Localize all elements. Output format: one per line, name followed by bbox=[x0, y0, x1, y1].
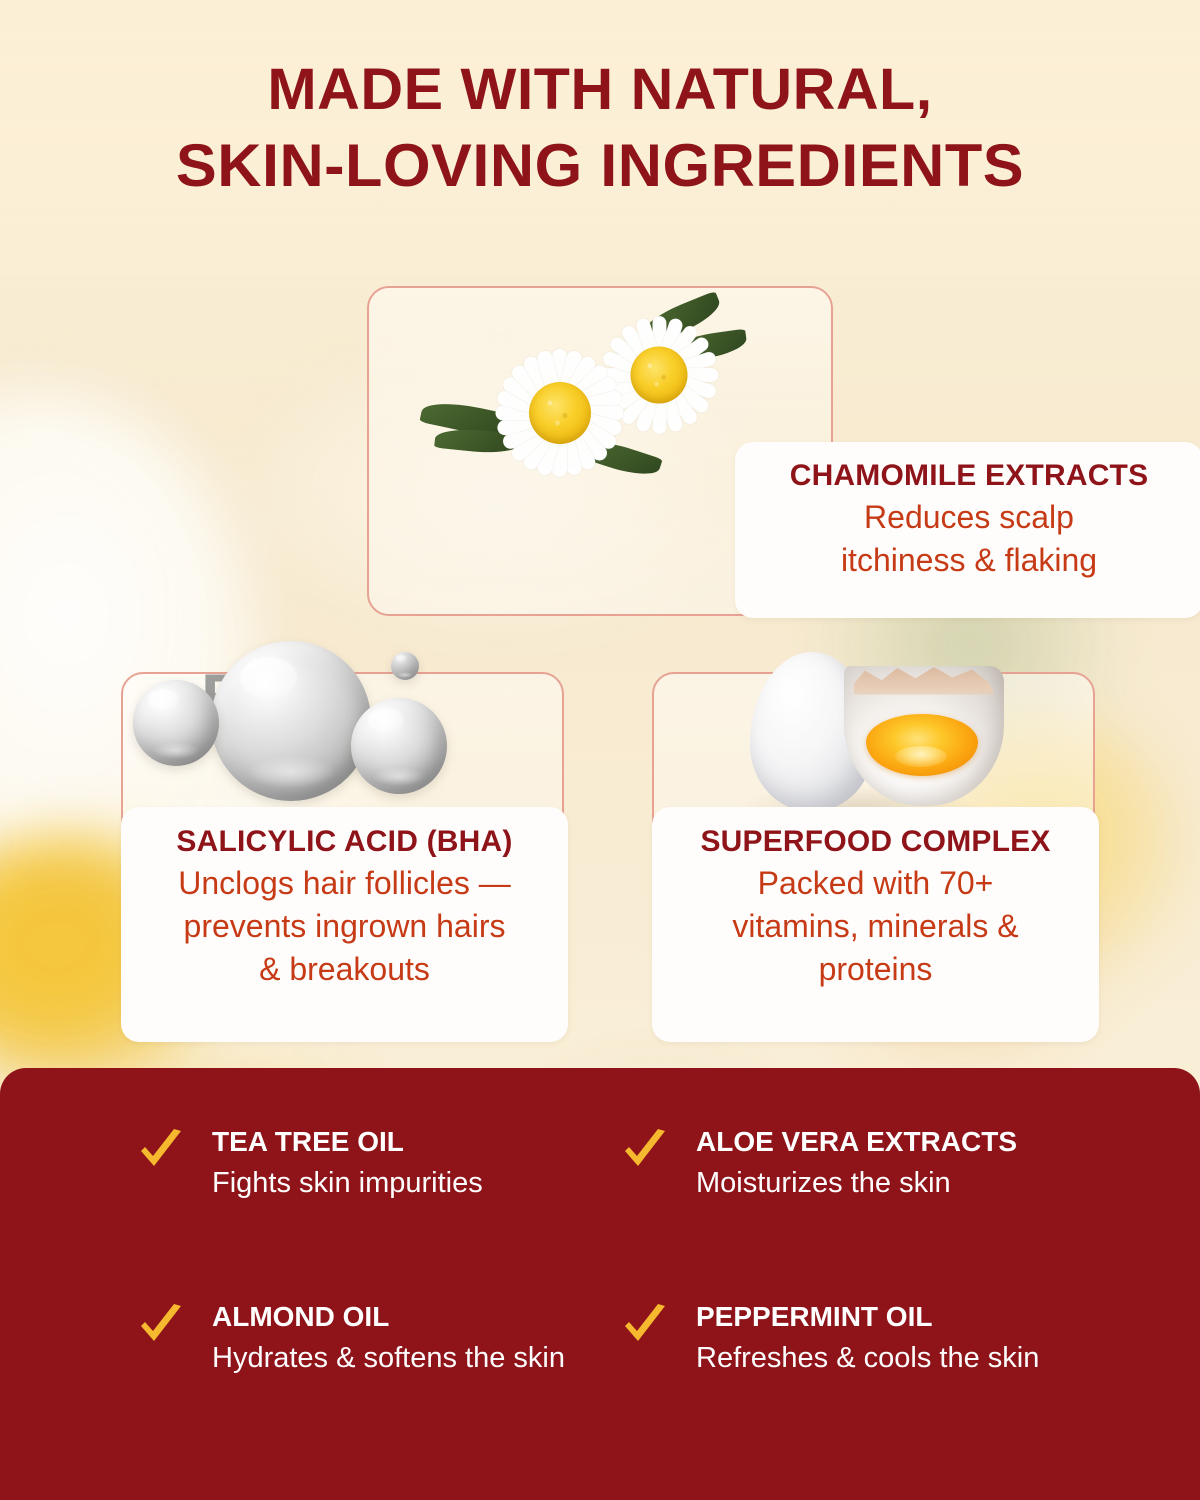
checkmark-icon bbox=[138, 1304, 184, 1348]
benefit-title: TEA TREE OIL bbox=[212, 1125, 608, 1159]
ingredient-desc-line: prevents ingrown hairs bbox=[131, 905, 558, 948]
chamomile-text-panel: CHAMOMILE EXTRACTS Reduces scalp itchine… bbox=[735, 442, 1200, 618]
ingredient-title: SUPERFOOD COMPLEX bbox=[662, 821, 1089, 862]
checkmark-icon bbox=[138, 1129, 184, 1173]
daisy-center bbox=[529, 382, 591, 444]
page-title-line-2: SKIN-LOVING INGREDIENTS bbox=[0, 128, 1200, 204]
benefit-item: TEA TREE OIL Fights skin impurities bbox=[138, 1125, 608, 1203]
benefit-item: ALOE VERA EXTRACTS Moisturizes the skin bbox=[622, 1125, 1092, 1203]
ingredient-desc-line: Packed with 70+ bbox=[662, 862, 1089, 905]
ingredient-desc-line: Unclogs hair follicles — bbox=[131, 862, 558, 905]
bha-sphere-right bbox=[351, 698, 447, 794]
ingredient-desc-line: vitamins, minerals & bbox=[662, 905, 1089, 948]
checkmark-icon bbox=[622, 1304, 668, 1348]
ingredient-title: SALICYLIC ACID (BHA) bbox=[131, 821, 558, 862]
benefit-desc: Hydrates & softens the skin bbox=[212, 1338, 608, 1378]
benefit-desc: Fights skin impurities bbox=[212, 1163, 608, 1203]
salicylic-text-panel: SALICYLIC ACID (BHA) Unclogs hair follic… bbox=[121, 807, 568, 1042]
page-title-line-1: MADE WITH NATURAL, bbox=[0, 52, 1200, 128]
ingredient-card-chamomile: CHAMOMILE EXTRACTS Reduces scalp itchine… bbox=[367, 286, 833, 616]
checkmark-icon bbox=[622, 1129, 668, 1173]
daisy-flower-front bbox=[447, 300, 672, 525]
benefit-item: PEPPERMINT OIL Refreshes & cools the ski… bbox=[622, 1300, 1092, 1378]
ingredient-desc-line: proteins bbox=[662, 948, 1089, 991]
superfood-text-panel: SUPERFOOD COMPLEX Packed with 70+ vitami… bbox=[652, 807, 1099, 1042]
bha-sphere-small bbox=[391, 652, 419, 680]
ingredient-title: CHAMOMILE EXTRACTS bbox=[745, 456, 1193, 496]
ingredient-card-salicylic-acid: BHA SALICYLIC ACID (BHA) Unclogs hair fo… bbox=[121, 672, 564, 1038]
egg-shell-crack-rim bbox=[854, 666, 995, 714]
bha-sphere-left bbox=[133, 680, 219, 766]
bha-sphere-large bbox=[211, 641, 371, 801]
benefit-title: ALOE VERA EXTRACTS bbox=[696, 1125, 1092, 1159]
benefit-item: ALMOND OIL Hydrates & softens the skin bbox=[138, 1300, 608, 1378]
benefit-desc: Moisturizes the skin bbox=[696, 1163, 1092, 1203]
benefit-title: PEPPERMINT OIL bbox=[696, 1300, 1092, 1334]
page-title: MADE WITH NATURAL, SKIN-LOVING INGREDIEN… bbox=[0, 52, 1200, 204]
ingredient-card-superfood-complex: SUPERFOOD COMPLEX Packed with 70+ vitami… bbox=[652, 672, 1095, 1038]
ingredient-desc-line: itchiness & flaking bbox=[745, 539, 1193, 582]
benefit-title: ALMOND OIL bbox=[212, 1300, 608, 1334]
ingredient-desc-line: Reduces scalp bbox=[745, 496, 1193, 539]
benefit-desc: Refreshes & cools the skin bbox=[696, 1338, 1092, 1378]
ingredient-desc-line: & breakouts bbox=[131, 948, 558, 991]
